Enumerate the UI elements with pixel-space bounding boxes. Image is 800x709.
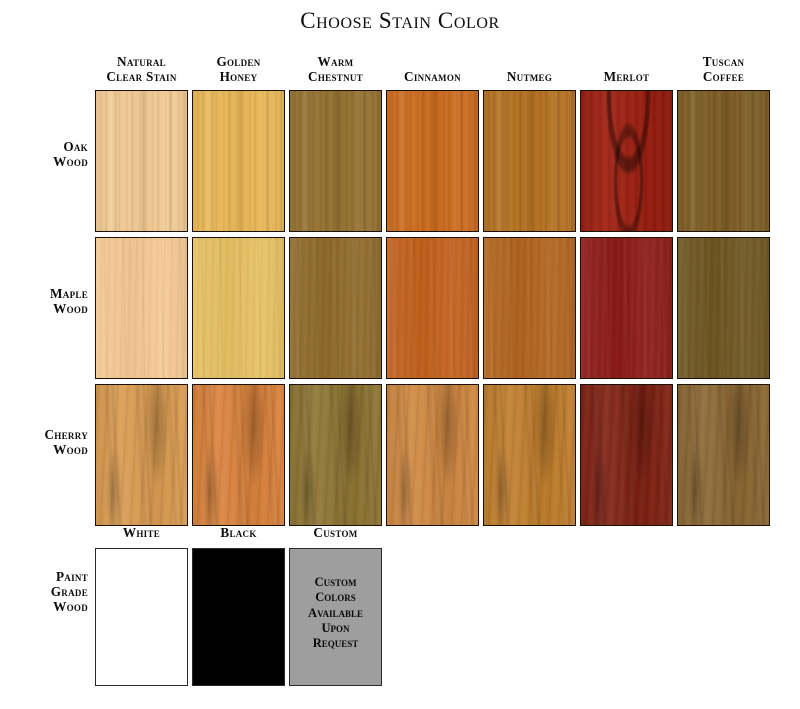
wood-grain-texture bbox=[386, 90, 479, 232]
column-header-line2: Chestnut bbox=[308, 70, 363, 85]
column-header-cinnamon: Cinnamon bbox=[386, 48, 479, 88]
swatch-oak-wood-merlot[interactable] bbox=[580, 90, 673, 232]
row-label-line2: Wood bbox=[0, 302, 88, 317]
column-header-line1: Warm bbox=[318, 55, 354, 70]
swatch-cherry-wood-nutmeg[interactable] bbox=[483, 384, 576, 526]
custom-colors-note: CustomColorsAvailableUponRequest bbox=[308, 575, 363, 652]
row-label-line1: Maple bbox=[0, 287, 88, 302]
swatch-maple-wood-golden-honey[interactable] bbox=[192, 237, 285, 379]
wood-grain-texture bbox=[580, 237, 673, 379]
wood-grain-texture bbox=[483, 90, 576, 232]
row-label-paint-grade-wood: PaintGradeWood bbox=[0, 570, 88, 614]
wood-grain-texture bbox=[289, 384, 382, 526]
wood-grain-texture bbox=[192, 90, 285, 232]
wood-grain-texture bbox=[580, 384, 673, 526]
wood-grain-texture bbox=[483, 237, 576, 379]
swatch-oak-wood-tuscan-coffee[interactable] bbox=[677, 90, 770, 232]
wood-grain-texture bbox=[192, 237, 285, 379]
wood-grain-texture bbox=[192, 384, 285, 526]
column-header-line1: Cinnamon bbox=[404, 70, 461, 85]
wood-grain-texture bbox=[386, 384, 479, 526]
swatch-cherry-wood-warm-chestnut[interactable] bbox=[289, 384, 382, 526]
swatch-cherry-wood-cinnamon[interactable] bbox=[386, 384, 479, 526]
row-label-line1: Cherry bbox=[0, 428, 88, 443]
paint-header-custom: Custom bbox=[289, 526, 382, 541]
column-header-natural-clear-stain: NaturalClear Stain bbox=[95, 48, 188, 88]
wood-grain-texture bbox=[95, 90, 188, 232]
swatch-cherry-wood-tuscan-coffee[interactable] bbox=[677, 384, 770, 526]
swatch-oak-wood-golden-honey[interactable] bbox=[192, 90, 285, 232]
swatch-maple-wood-natural-clear-stain[interactable] bbox=[95, 237, 188, 379]
column-header-golden-honey: GoldenHoney bbox=[192, 48, 285, 88]
column-header-merlot: Merlot bbox=[580, 48, 673, 88]
custom-note-line: Upon bbox=[308, 621, 363, 636]
column-header-row: NaturalClear StainGoldenHoneyWarmChestnu… bbox=[95, 48, 771, 88]
wood-grain-texture bbox=[289, 90, 382, 232]
paint-header-white: White bbox=[95, 526, 188, 541]
swatch-cherry-wood-merlot[interactable] bbox=[580, 384, 673, 526]
wood-grain-texture bbox=[289, 237, 382, 379]
row-label-maple-wood: MapleWood bbox=[0, 287, 88, 317]
swatch-maple-wood-tuscan-coffee[interactable] bbox=[677, 237, 770, 379]
swatch-oak-wood-nutmeg[interactable] bbox=[483, 90, 576, 232]
swatch-paint-white[interactable] bbox=[95, 548, 188, 686]
custom-note-line: Available bbox=[308, 606, 363, 621]
column-header-nutmeg: Nutmeg bbox=[483, 48, 576, 88]
column-header-line1: Tuscan bbox=[703, 55, 745, 70]
wood-grain-texture bbox=[677, 384, 770, 526]
column-header-line1: Merlot bbox=[604, 70, 650, 85]
row-label-line1: Paint bbox=[0, 570, 88, 585]
swatch-cherry-wood-natural-clear-stain[interactable] bbox=[95, 384, 188, 526]
swatch-paint-custom[interactable]: CustomColorsAvailableUponRequest bbox=[289, 548, 382, 686]
wood-grain-texture bbox=[677, 237, 770, 379]
swatch-maple-wood-merlot[interactable] bbox=[580, 237, 673, 379]
wood-grain-texture bbox=[95, 237, 188, 379]
column-header-line2: Clear Stain bbox=[106, 70, 176, 85]
wood-grain-texture bbox=[386, 237, 479, 379]
row-label-line3: Wood bbox=[0, 600, 88, 615]
swatch-maple-wood-nutmeg[interactable] bbox=[483, 237, 576, 379]
swatch-maple-wood-warm-chestnut[interactable] bbox=[289, 237, 382, 379]
wood-grain-texture bbox=[95, 384, 188, 526]
column-header-line2: Honey bbox=[220, 70, 258, 85]
custom-note-line: Request bbox=[308, 636, 363, 651]
paint-header-black: Black bbox=[192, 526, 285, 541]
column-header-line2: Coffee bbox=[703, 70, 744, 85]
row-label-cherry-wood: CherryWood bbox=[0, 428, 88, 458]
wood-grain-texture bbox=[580, 90, 673, 232]
row-label-line2: Grade bbox=[0, 585, 88, 600]
row-label-line2: Wood bbox=[0, 155, 88, 170]
column-header-line1: Golden bbox=[216, 55, 260, 70]
swatch-cherry-wood-golden-honey[interactable] bbox=[192, 384, 285, 526]
page-title: Choose Stain Color bbox=[0, 8, 800, 34]
swatch-maple-wood-cinnamon[interactable] bbox=[386, 237, 479, 379]
swatch-oak-wood-cinnamon[interactable] bbox=[386, 90, 479, 232]
column-header-line1: Natural bbox=[117, 55, 166, 70]
row-label-line2: Wood bbox=[0, 443, 88, 458]
custom-note-line: Colors bbox=[308, 590, 363, 605]
swatch-oak-wood-warm-chestnut[interactable] bbox=[289, 90, 382, 232]
row-label-line1: Oak bbox=[0, 140, 88, 155]
row-label-oak-wood: OakWood bbox=[0, 140, 88, 170]
custom-note-line: Custom bbox=[308, 575, 363, 590]
wood-grain-texture bbox=[677, 90, 770, 232]
swatch-paint-black[interactable] bbox=[192, 548, 285, 686]
column-header-warm-chestnut: WarmChestnut bbox=[289, 48, 382, 88]
column-header-line1: Nutmeg bbox=[507, 70, 552, 85]
wood-grain-texture bbox=[483, 384, 576, 526]
column-header-tuscan-coffee: TuscanCoffee bbox=[677, 48, 770, 88]
swatch-oak-wood-natural-clear-stain[interactable] bbox=[95, 90, 188, 232]
